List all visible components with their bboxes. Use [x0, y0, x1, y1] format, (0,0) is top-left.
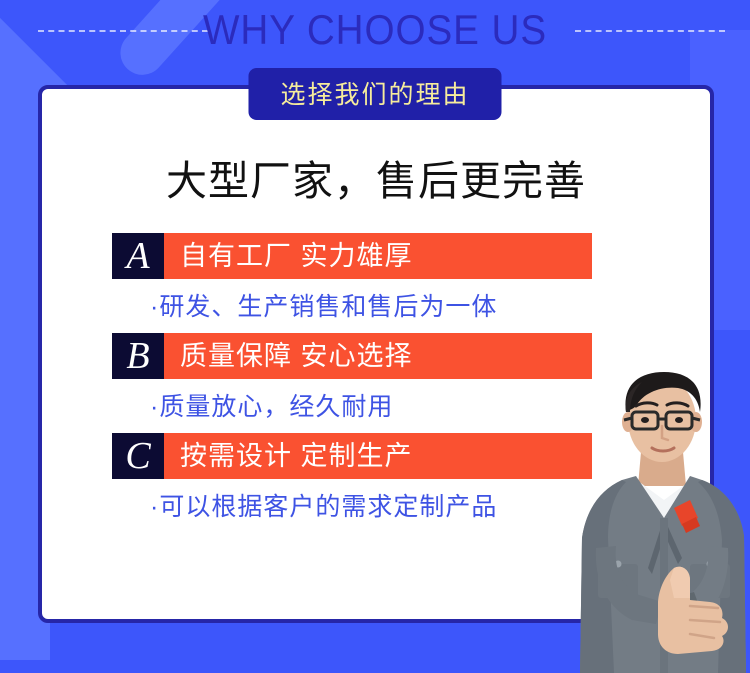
feature-title: 按需设计 定制生产 — [164, 433, 592, 479]
feature-title: 自有工厂 实力雄厚 — [164, 233, 592, 279]
page-title-english: WHY CHOOSE US — [30, 6, 720, 54]
feature-letter-badge: A — [112, 233, 164, 279]
feature-letter-badge: B — [112, 333, 164, 379]
feature-bar: B 质量保障 安心选择 — [112, 333, 592, 379]
worker-thumbs-up-photo — [578, 368, 750, 673]
feature-letter-badge: C — [112, 433, 164, 479]
card-heading: 大型厂家，售后更完善 — [42, 147, 710, 207]
section-badge: 选择我们的理由 — [248, 68, 501, 120]
feature-bar: A 自有工厂 实力雄厚 — [112, 233, 592, 279]
feature-title: 质量保障 安心选择 — [164, 333, 592, 379]
feature-bar: C 按需设计 定制生产 — [112, 433, 592, 479]
list-item: A 自有工厂 实力雄厚 ·研发、生产销售和售后为一体 — [112, 233, 710, 333]
feature-subtitle: ·研发、生产销售和售后为一体 — [112, 279, 710, 333]
